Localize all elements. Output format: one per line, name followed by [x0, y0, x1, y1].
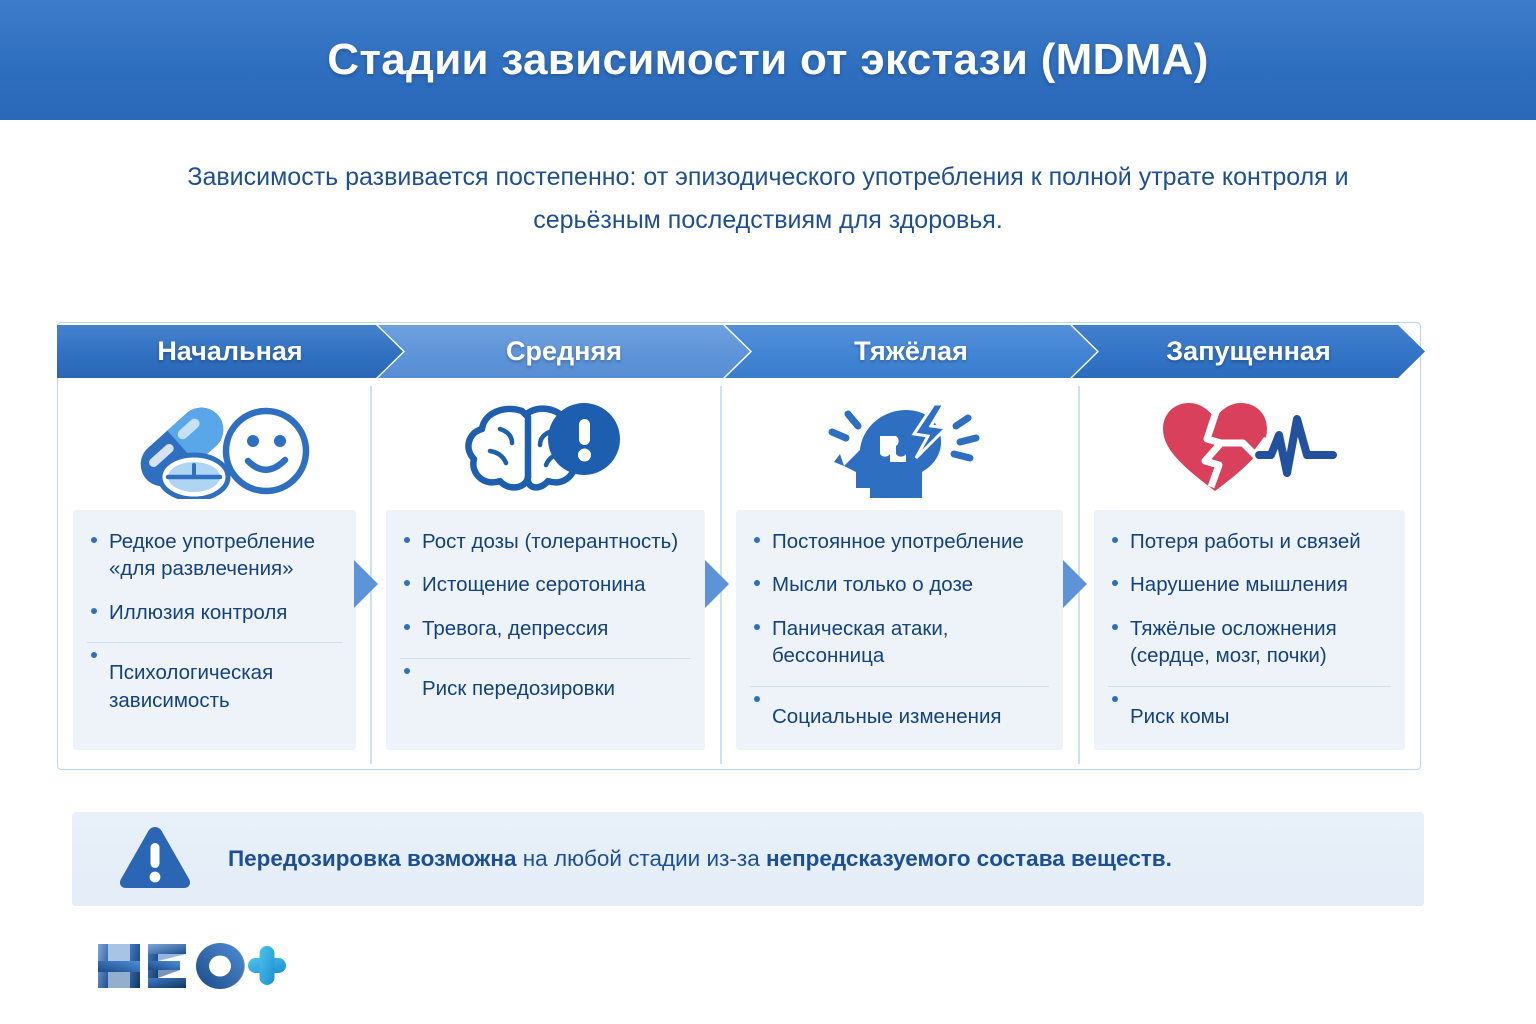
stage-chevron-label-2: Тяжёлая [854, 336, 968, 367]
stage-chevron-0[interactable]: Начальная [57, 325, 403, 378]
list-item: Иллюзия контроля [87, 599, 342, 626]
pills-smiley-icon [59, 388, 370, 506]
list-item: Истощение серотонина [400, 571, 691, 598]
list-item: Риск передозировки [400, 658, 691, 702]
list-item: Нарушение мышления [1108, 571, 1391, 598]
stage-chevron-2[interactable]: Тяжёлая [725, 325, 1097, 378]
stage-column-3: Потеря работы и связей Нарушение мышлени… [1080, 382, 1419, 766]
stage-connector-arrow-2 [705, 560, 729, 608]
stage-chevron-label-1: Средняя [506, 336, 622, 367]
stage-connector-arrow-1 [354, 560, 378, 608]
stage-column-2: Постоянное употребление Мысли только о д… [722, 382, 1077, 766]
stage-chevron-strip: Начальная Средняя Тяжёлая Запущенная [57, 325, 1425, 378]
list-item: Риск комы [1108, 686, 1391, 730]
stage-chevron-label-3: Запущенная [1166, 336, 1330, 367]
stage-connector-arrow-3 [1063, 560, 1087, 608]
stage-chevron-1[interactable]: Средняя [378, 325, 750, 378]
page-title: Стадии зависимости от экстази (MDMA) [327, 35, 1208, 85]
broken-heart-ecg-icon [1080, 388, 1419, 506]
stage-bullets-3: Потеря работы и связей Нарушение мышлени… [1094, 510, 1405, 750]
list-item: Рост дозы (толерантность) [400, 528, 691, 555]
list-item: Тяжёлые осложнения (сердце, мозг, почки) [1108, 615, 1391, 670]
warning-triangle-icon [118, 824, 192, 895]
stage-bullets-1: Рост дозы (толерантность) Истощение серо… [386, 510, 705, 750]
stage-column-0: Редкое употребление «для развлечения» Ил… [59, 382, 370, 766]
warning-bold-start: Передозировка возможна [228, 846, 517, 871]
warning-banner: Передозировка возможна на любой стадии и… [72, 812, 1424, 906]
stage-bullets-0: Редкое употребление «для развлечения» Ил… [73, 510, 356, 750]
head-puzzle-lightning-icon [722, 388, 1077, 506]
list-item: Паническая атаки, бессонница [750, 615, 1049, 670]
warning-text: Передозировка возможна на любой стадии и… [228, 846, 1172, 872]
list-item: Тревога, депрессия [400, 615, 691, 642]
stage-bullets-2: Постоянное употребление Мысли только о д… [736, 510, 1063, 750]
list-item: Мысли только о дозе [750, 571, 1049, 598]
list-item: Потеря работы и связей [1108, 528, 1391, 555]
warning-regular-middle: на любой стадии из-за [517, 846, 766, 871]
warning-bold-end: непредсказуемого состава веществ. [766, 846, 1172, 871]
stage-chevron-label-0: Начальная [157, 336, 302, 367]
stage-chevron-3[interactable]: Запущенная [1072, 325, 1425, 378]
list-item: Редкое употребление «для развлечения» [87, 528, 342, 583]
brand-logo[interactable] [96, 938, 286, 994]
list-item: Социальные изменения [750, 686, 1049, 730]
brain-alert-icon [372, 388, 719, 506]
list-item: Постоянное употребление [750, 528, 1049, 555]
page-header: Стадии зависимости от экстази (MDMA) [0, 0, 1536, 120]
list-item: Психологическая зависимость [87, 642, 342, 714]
page-subtitle: Зависимость развивается постепенно: от э… [168, 156, 1368, 242]
stage-column-1: Рост дозы (толерантность) Истощение серо… [372, 382, 719, 766]
